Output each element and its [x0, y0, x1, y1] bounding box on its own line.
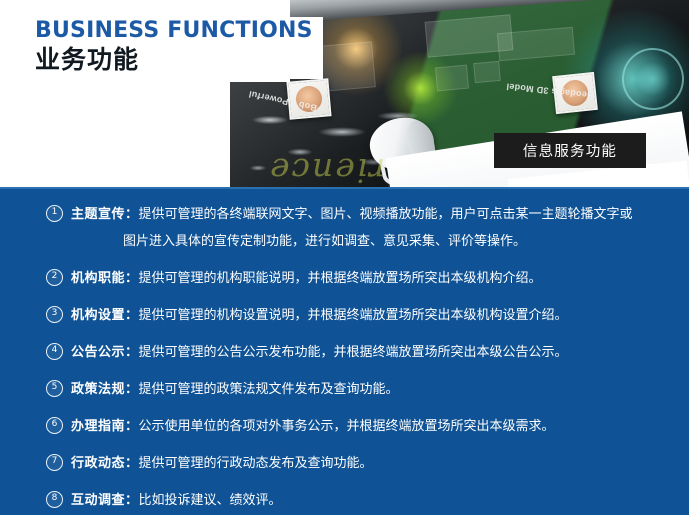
title-english: BUSINESS FUNCTIONS: [35, 19, 313, 44]
panel-top-divider: [0, 187, 689, 189]
list-item: 5政策法规：提供可管理的政策法规文件发布及查询功能。: [0, 376, 689, 403]
list-item-number-badge: 7: [46, 454, 63, 471]
list-item-number-badge: 4: [46, 343, 63, 360]
list-item-number-badge: 1: [46, 205, 63, 222]
list-item-number-badge: 6: [46, 417, 63, 434]
list-item-number-badge: 8: [46, 491, 63, 508]
list-item-text: 提供可管理的行政动态发布及查询功能。: [139, 456, 373, 471]
list-item: 2机构职能：提供可管理的机构职能说明，并根据终端放置场所突出本级机构介绍。: [0, 265, 689, 292]
list-item-body: 政策法规：提供可管理的政策法规文件发布及查询功能。: [71, 376, 399, 403]
list-item-lead: 互动调查：: [71, 493, 139, 508]
list-item-text-continued: 图片进入具体的宣传定制功能，进行如调查、意见采集、评价等操作。: [71, 228, 633, 255]
tablet-ui-tile: [473, 61, 501, 83]
hero-caption-chip: 信息服务功能: [494, 133, 646, 168]
title-chinese: 业务功能: [35, 45, 313, 75]
list-item: 7行政动态：提供可管理的行政动态发布及查询功能。: [0, 450, 689, 477]
list-item-lead: 主题宣传：: [71, 207, 139, 222]
list-item-number-badge: 3: [46, 306, 63, 323]
page-title: BUSINESS FUNCTIONS 业务功能: [33, 17, 323, 79]
list-item-lead: 机构职能：: [71, 271, 139, 286]
list-item-text: 提供可管理的公告公示发布功能，并根据终端放置场所突出本级公告公示。: [139, 345, 568, 360]
list-item-body: 主题宣传：提供可管理的各终端联网文字、图片、视频播放功能，用户可点击某一主题轮播…: [71, 201, 633, 255]
list-item: 6办理指南：公示使用单位的各项对外事务公示，并根据终端放置场所突出本级需求。: [0, 413, 689, 440]
list-item-text: 比如投诉建议、绩效评。: [139, 493, 282, 508]
list-item-text: 提供可管理的各终端联网文字、图片、视频播放功能，用户可点击某一主题轮播文字或: [139, 207, 633, 222]
list-item-text: 提供可管理的机构职能说明，并根据终端放置场所突出本级机构介绍。: [139, 271, 542, 286]
list-item-lead: 机构设置：: [71, 308, 139, 323]
list-item: 3机构设置：提供可管理的机构设置说明，并根据终端放置场所突出本级机构设置介绍。: [0, 302, 689, 329]
list-item: 4公告公示：提供可管理的公告公示发布功能，并根据终端放置场所突出本级公告公示。: [0, 339, 689, 366]
list-item-body: 办理指南：公示使用单位的各项对外事务公示，并根据终端放置场所突出本级需求。: [71, 413, 555, 440]
list-item-body: 机构设置：提供可管理的机构设置说明，并根据终端放置场所突出本级机构设置介绍。: [71, 302, 568, 329]
list-item: 1主题宣传：提供可管理的各终端联网文字、图片、视频播放功能，用户可点击某一主题轮…: [0, 201, 689, 255]
list-item-lead: 政策法规：: [71, 382, 139, 397]
list-item-lead: 公告公示：: [71, 345, 139, 360]
list-item-number-badge: 2: [46, 269, 63, 286]
list-item-number-badge: 5: [46, 380, 63, 397]
list-item-lead: 行政动态：: [71, 456, 139, 471]
slide-page: Bob's Powerful Heodag's 3D Model Interac…: [0, 0, 689, 515]
list-item-body: 公告公示：提供可管理的公告公示发布功能，并根据终端放置场所突出本级公告公示。: [71, 339, 568, 366]
list-item-body: 行政动态：提供可管理的行政动态发布及查询功能。: [71, 450, 373, 477]
list-item-body: 机构职能：提供可管理的机构职能说明，并根据终端放置场所突出本级机构介绍。: [71, 265, 542, 292]
list-item-text: 公示使用单位的各项对外事务公示，并根据终端放置场所突出本级需求。: [139, 419, 555, 434]
list-item: 8互动调查：比如投诉建议、绩效评。: [0, 487, 689, 514]
list-item-text: 提供可管理的机构设置说明，并根据终端放置场所突出本级机构设置介绍。: [139, 308, 568, 323]
list-item-lead: 办理指南：: [71, 419, 139, 434]
list-item-text: 提供可管理的政策法规文件发布及查询功能。: [139, 382, 399, 397]
functions-panel: 1主题宣传：提供可管理的各终端联网文字、图片、视频播放功能，用户可点击某一主题轮…: [0, 187, 689, 515]
tablet-ui-tile: [435, 65, 469, 92]
functions-list: 1主题宣传：提供可管理的各终端联网文字、图片、视频播放功能，用户可点击某一主题轮…: [0, 201, 689, 515]
list-item-body: 互动调查：比如投诉建议、绩效评。: [71, 487, 282, 514]
